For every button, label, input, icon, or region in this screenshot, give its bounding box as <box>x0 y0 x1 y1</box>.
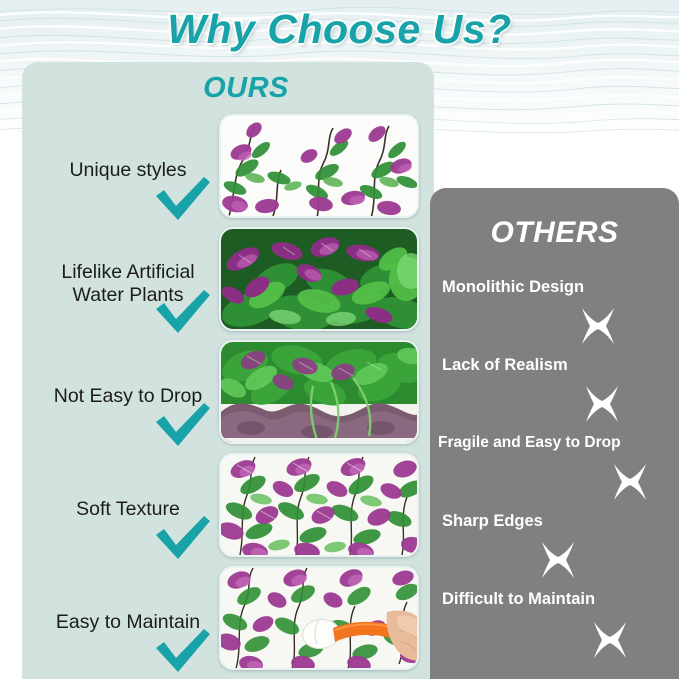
ours-row: Not Easy to Drop <box>22 340 434 453</box>
x-icon <box>538 540 578 580</box>
page-title: Why Choose Us? <box>0 6 679 53</box>
others-row: Sharp Edges <box>430 512 679 586</box>
others-panel: OTHERS Monolithic Design Lack of Realism… <box>430 188 679 679</box>
others-item-label: Monolithic Design <box>442 278 670 297</box>
others-item-label: Sharp Edges <box>442 512 670 531</box>
others-row: Difficult to Maintain <box>430 590 679 664</box>
others-row: Fragile and Easy to Drop <box>430 434 679 508</box>
ours-item-photo <box>219 566 419 670</box>
others-heading: OTHERS <box>430 216 679 250</box>
ours-item-photo <box>219 227 419 331</box>
others-item-label: Fragile and Easy to Drop <box>438 434 666 452</box>
x-icon <box>582 384 622 424</box>
others-item-label: Lack of Realism <box>442 356 670 375</box>
ours-heading: OURS <box>22 72 434 105</box>
others-row: Monolithic Design <box>430 278 679 352</box>
ours-row: Soft Texture <box>22 453 434 566</box>
ours-item-photo <box>219 114 419 218</box>
others-row: Lack of Realism <box>430 356 679 430</box>
check-icon <box>154 515 212 561</box>
ours-row: Unique styles <box>22 114 434 227</box>
check-icon <box>154 402 212 448</box>
x-icon <box>590 620 630 660</box>
check-icon <box>154 628 212 674</box>
ours-row: Easy to Maintain <box>22 566 434 679</box>
check-icon <box>154 176 212 222</box>
x-icon <box>578 306 618 346</box>
check-icon <box>154 289 212 335</box>
ours-row: Lifelike Artificial Water Plants <box>22 227 434 340</box>
ours-item-photo <box>219 340 419 444</box>
ours-item-photo <box>219 453 419 557</box>
x-icon <box>610 462 650 502</box>
ours-panel: OURS Unique styles <box>22 62 434 679</box>
why-choose-us-poster: Why Choose Us? OURS Unique styles <box>0 0 679 679</box>
others-item-label: Difficult to Maintain <box>442 590 670 609</box>
